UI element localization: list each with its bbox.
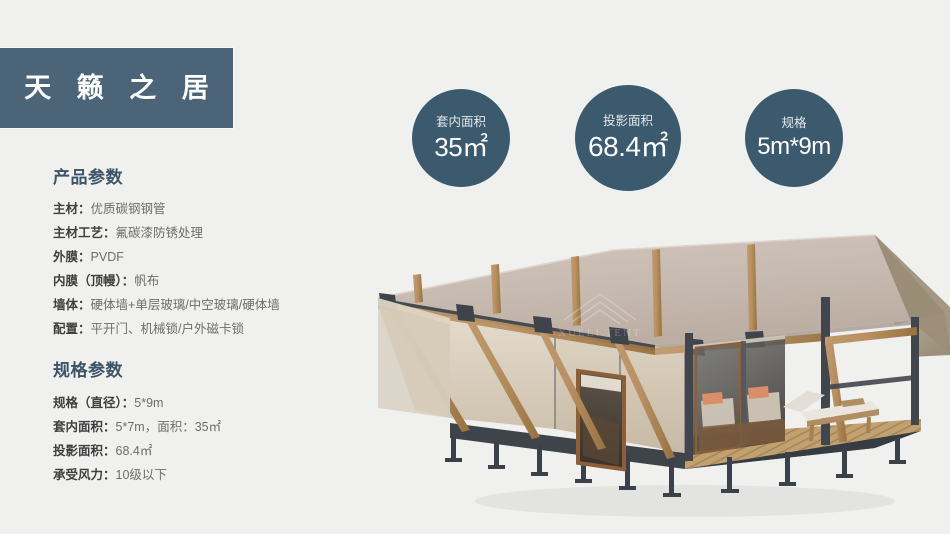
spec-label: 内膜（顶幔）：: [53, 274, 134, 288]
spec-value: PVDF: [91, 250, 124, 264]
stat-badge-label: 规格: [781, 117, 806, 130]
spec-row: 墙体：硬体墙+单层玻璃/中空玻璃/硬体墙: [53, 293, 383, 317]
spec-row: 承受风力：10级以下: [53, 463, 383, 487]
spec-label: 配置：: [53, 322, 91, 336]
spec-label: 主材工艺：: [53, 226, 116, 240]
spec-row: 投影面积：68.4㎡: [53, 439, 383, 463]
stat-badge-dimensions: 规格 5m*9m: [745, 89, 843, 187]
stat-badge-label: 套内面积: [436, 116, 486, 129]
stat-badge-projected-area: 投影面积 68.4㎡: [575, 85, 681, 191]
title-banner: 天 籁 之 居: [0, 48, 233, 128]
spec-parameters-section: 规格参数 规格（直径）：5*9m 套内面积：5*7m，面积：35㎡ 投影面积：6…: [53, 361, 383, 486]
spec-row: 配置：平开门、机械锁/户外磁卡锁: [53, 317, 383, 341]
stat-badge-value: 35㎡: [434, 134, 487, 160]
spec-row: 外膜：PVDF: [53, 245, 383, 269]
spec-value: 5*9m: [134, 396, 163, 410]
stat-badge-interior-area: 套内面积 35㎡: [412, 89, 510, 187]
specification-panel: 产品参数 主材：优质碳钢钢管 主材工艺：氟碳漆防锈处理 外膜：PVDF 内膜（顶…: [53, 168, 383, 501]
spec-row: 套内面积：5*7m，面积：35㎡: [53, 415, 383, 439]
spec-row: 规格（直径）：5*9m: [53, 391, 383, 415]
steel-post-center: [685, 333, 693, 461]
spec-label: 外膜：: [53, 250, 91, 264]
spec-value: 优质碳钢钢管: [91, 202, 166, 216]
wall-end-flap-shade: [378, 305, 450, 418]
spec-value: 硬体墙+单层玻璃/中空玻璃/硬体墙: [91, 298, 280, 312]
stat-badge-label: 投影面积: [603, 115, 653, 128]
ground-shadow: [475, 485, 895, 517]
spec-value: 帆布: [134, 274, 159, 288]
spec-value: 10级以下: [116, 468, 167, 482]
spec-value: 氟碳漆防锈处理: [116, 226, 204, 240]
spec-value: 68.4㎡: [116, 444, 153, 458]
stat-badge-value: 5m*9m: [757, 135, 831, 159]
spec-label: 规格（直径）：: [53, 396, 134, 410]
spec-label: 墙体：: [53, 298, 91, 312]
stat-badge-value: 68.4㎡: [588, 133, 668, 161]
product-parameters-section: 产品参数 主材：优质碳钢钢管 主材工艺：氟碳漆防锈处理 外膜：PVDF 内膜（顶…: [53, 168, 383, 341]
spec-label: 主材：: [53, 202, 91, 216]
spec-parameters-heading: 规格参数: [53, 361, 383, 381]
tent-3d-render: [355, 205, 950, 534]
spec-label: 投影面积：: [53, 444, 116, 458]
spec-value: 平开门、机械锁/户外磁卡锁: [91, 322, 244, 336]
spec-label: 承受风力：: [53, 468, 116, 482]
page-root: 天 籁 之 居 产品参数 主材：优质碳钢钢管 主材工艺：氟碳漆防锈处理 外膜：P…: [0, 0, 950, 534]
product-parameters-heading: 产品参数: [53, 168, 383, 188]
spec-label: 套内面积：: [53, 420, 116, 434]
spec-row: 主材工艺：氟碳漆防锈处理: [53, 221, 383, 245]
spec-value: 5*7m，面积：35㎡: [116, 420, 222, 434]
page-title: 天 籁 之 居: [15, 75, 218, 102]
spec-row: 主材：优质碳钢钢管: [53, 197, 383, 221]
spec-row: 内膜（顶幔）：帆布: [53, 269, 383, 293]
